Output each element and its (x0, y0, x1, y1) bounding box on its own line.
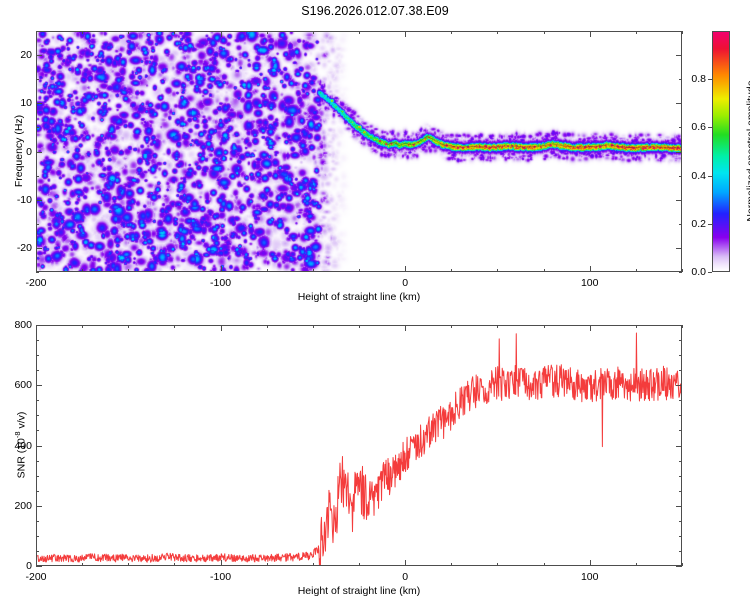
colorbar[interactable] (712, 31, 730, 272)
axis-tick (497, 31, 498, 34)
axis-tick (36, 521, 39, 522)
axis-tick (676, 446, 682, 447)
axis-tick (679, 415, 682, 416)
axis-tick (676, 566, 682, 567)
axis-tick-label: 600 (12, 379, 32, 391)
axis-tick (36, 127, 39, 128)
axis-tick (676, 385, 682, 386)
axis-tick-label: 800 (12, 319, 32, 331)
axis-tick-label: 100 (581, 277, 599, 289)
colorbar-tick-label: 0.2 (678, 218, 706, 230)
colorbar-tick-label: 0.4 (678, 170, 706, 182)
axis-tick (590, 560, 591, 566)
axis-tick (36, 31, 39, 32)
axis-tick-label: -100 (210, 571, 231, 583)
axis-tick (36, 248, 42, 249)
axis-tick (36, 446, 42, 447)
axis-tick (36, 200, 42, 201)
axis-tick (679, 31, 682, 32)
axis-tick (36, 430, 39, 431)
axis-tick (544, 269, 545, 272)
axis-tick (679, 340, 682, 341)
axis-tick (128, 563, 129, 566)
axis-tick (221, 325, 222, 331)
axis-tick (36, 370, 39, 371)
axis-tick (676, 55, 682, 56)
axis-tick (128, 31, 129, 34)
axis-tick (451, 325, 452, 328)
axis-tick-label: 0 (12, 560, 32, 572)
axis-tick (267, 563, 268, 566)
axis-tick (174, 31, 175, 34)
axis-tick (544, 563, 545, 566)
axis-tick (682, 325, 683, 328)
snr-trace (37, 326, 682, 566)
snr-axes[interactable] (36, 325, 682, 566)
axis-tick (36, 272, 39, 273)
page-title: S196.2026.012.07.38.E09 (0, 4, 750, 18)
axis-tick (36, 400, 39, 401)
axis-tick (82, 31, 83, 34)
axis-tick (451, 269, 452, 272)
axis-tick (82, 269, 83, 272)
axis-tick (405, 31, 406, 37)
axis-tick (36, 491, 39, 492)
axis-tick (128, 325, 129, 328)
axis-tick (36, 551, 39, 552)
axis-tick (679, 430, 682, 431)
axis-tick (676, 200, 682, 201)
axis-tick (497, 563, 498, 566)
axis-tick (36, 325, 42, 326)
axis-tick (221, 266, 222, 272)
axis-tick (679, 551, 682, 552)
axis-tick (313, 31, 314, 34)
axis-tick-label: -200 (25, 571, 46, 583)
axis-tick (36, 55, 42, 56)
axis-tick-label: -100 (210, 277, 231, 289)
axis-tick (405, 266, 406, 272)
axis-tick (36, 103, 42, 104)
axis-tick (636, 31, 637, 34)
colorbar-tick-label: 0.8 (678, 73, 706, 85)
figure-canvas: S196.2026.012.07.38.E09 -200-1000100-20-… (0, 0, 750, 600)
colorbar-tick (708, 79, 712, 80)
axis-tick (590, 31, 591, 37)
axis-tick (82, 325, 83, 328)
axis-tick (36, 385, 42, 386)
axis-tick (174, 563, 175, 566)
axis-tick (36, 79, 39, 80)
axis-tick (682, 31, 683, 34)
axis-tick (36, 536, 39, 537)
axis-tick (267, 31, 268, 34)
axis-tick (82, 563, 83, 566)
axis-tick (359, 31, 360, 34)
axis-tick (36, 340, 39, 341)
spectrogram-y-axis-title: Frequency (Hz) (13, 115, 25, 187)
colorbar-tick (708, 127, 712, 128)
axis-tick (679, 355, 682, 356)
axis-tick-label: 0 (402, 277, 408, 289)
axis-tick (36, 176, 39, 177)
snr-x-axis-title: Height of straight line (km) (298, 585, 421, 597)
axis-tick (359, 563, 360, 566)
axis-tick (590, 266, 591, 272)
axis-tick (36, 476, 39, 477)
axis-tick (544, 325, 545, 328)
colorbar-tick (708, 224, 712, 225)
axis-tick-label: 10 (12, 97, 32, 109)
axis-tick-label: 20 (12, 49, 32, 61)
spectrogram-axes[interactable] (36, 31, 682, 272)
axis-tick-label: 100 (581, 571, 599, 583)
axis-tick (313, 325, 314, 328)
colorbar-tick (708, 272, 712, 273)
axis-tick (679, 400, 682, 401)
axis-tick (174, 325, 175, 328)
axis-tick (497, 269, 498, 272)
axis-tick (451, 31, 452, 34)
axis-tick (36, 224, 39, 225)
axis-tick (359, 269, 360, 272)
colorbar-tick-label: 0.0 (678, 266, 706, 278)
axis-tick (313, 269, 314, 272)
axis-tick (676, 152, 682, 153)
axis-tick (636, 563, 637, 566)
axis-tick (590, 325, 591, 331)
colorbar-tick (708, 176, 712, 177)
axis-tick (267, 325, 268, 328)
axis-tick-label: -20 (12, 242, 32, 254)
axis-tick (221, 31, 222, 37)
axis-tick (679, 476, 682, 477)
axis-tick (36, 152, 42, 153)
axis-tick-label: 0 (402, 571, 408, 583)
colorbar-gradient (713, 32, 729, 271)
axis-tick (679, 491, 682, 492)
spectrogram-x-axis-title: Height of straight line (km) (298, 291, 421, 303)
axis-tick (497, 325, 498, 328)
axis-tick (676, 248, 682, 249)
axis-tick (359, 325, 360, 328)
axis-tick (36, 415, 39, 416)
axis-tick (405, 325, 406, 331)
axis-tick (544, 31, 545, 34)
axis-tick-label: 200 (12, 500, 32, 512)
axis-tick (267, 269, 268, 272)
axis-tick (174, 269, 175, 272)
axis-tick (679, 521, 682, 522)
snr-line-plot (37, 326, 682, 566)
axis-tick (221, 560, 222, 566)
axis-tick (682, 563, 683, 566)
axis-tick (676, 506, 682, 507)
axis-tick (36, 506, 42, 507)
colorbar-tick-label: 0.6 (678, 121, 706, 133)
axis-tick (636, 269, 637, 272)
colorbar-title: Normalized spectral amplitude (745, 80, 750, 221)
axis-tick (128, 269, 129, 272)
axis-tick (36, 355, 39, 356)
axis-tick (636, 325, 637, 328)
axis-tick (36, 461, 39, 462)
snr-y-axis-title: SNR (10-8 v/v) (13, 412, 28, 479)
axis-tick-label: -200 (25, 277, 46, 289)
axis-tick-label: -10 (12, 194, 32, 206)
axis-tick (405, 560, 406, 566)
axis-tick (676, 103, 682, 104)
axis-tick (451, 563, 452, 566)
axis-tick (679, 461, 682, 462)
axis-tick (36, 566, 42, 567)
axis-tick (679, 536, 682, 537)
axis-tick (313, 563, 314, 566)
spectrogram-image (37, 32, 681, 271)
axis-tick (676, 325, 682, 326)
axis-tick (679, 370, 682, 371)
